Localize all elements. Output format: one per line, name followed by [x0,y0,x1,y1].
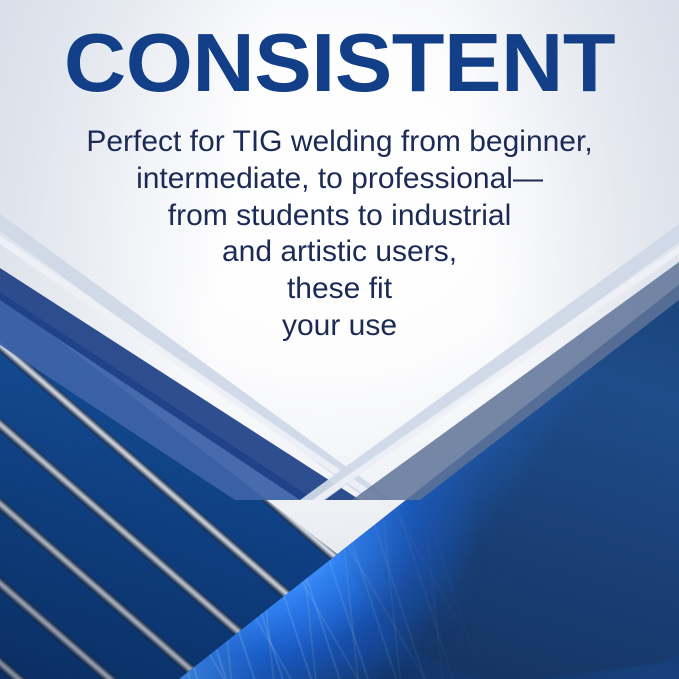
subcopy-line: from students to industrial [0,198,679,235]
subcopy-line: your use [0,308,679,345]
banner-text-block: CONSISTENT Perfect for TIG welding from … [0,0,679,345]
subcopy-line: and artistic users, [0,234,679,271]
page-title: CONSISTENT [0,0,679,104]
subcopy-line: these fit [0,271,679,308]
product-banner: CONSISTENT Perfect for TIG welding from … [0,0,679,679]
subcopy-line: Perfect for TIG welding from beginner, [0,124,679,161]
subcopy: Perfect for TIG welding from beginner, i… [0,104,679,345]
subcopy-line: intermediate, to professional— [0,161,679,198]
